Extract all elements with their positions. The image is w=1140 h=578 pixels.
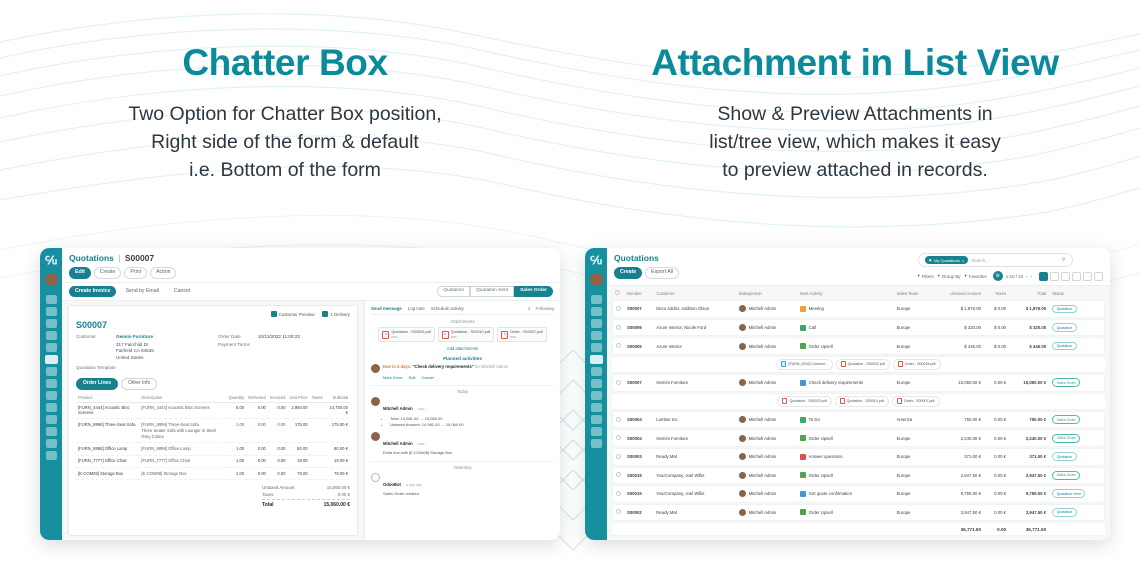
sidebar-icon-crm[interactable] [46, 331, 57, 340]
settings-icon[interactable]: ⚙ [993, 271, 1003, 281]
line-description: [E-COM08] Storage Box [139, 468, 226, 480]
row-customer: Lumber Inc [653, 411, 735, 429]
attachment-chip[interactable]: A Quotation - S00010.pdfPDF [438, 327, 494, 342]
customer-preview-label: Customer Preview [279, 312, 315, 317]
line-invoiced: 0.00 [268, 443, 288, 455]
avatar [371, 364, 380, 373]
line-subtotal: 14,750.00 € [325, 402, 350, 418]
promo-band: Chatter Box Two Option for Chatter Box p… [0, 0, 1140, 230]
user-avatar[interactable] [45, 273, 58, 286]
row-untaxed: 750.00 € [932, 411, 984, 429]
create-button[interactable]: Create [94, 267, 122, 279]
sidebar-icon-settings[interactable] [46, 451, 57, 460]
avatar [739, 453, 746, 460]
table-row[interactable]: S00002 Ready Mat Mitchell Admin Order Up… [612, 504, 1105, 522]
attachment-chip[interactable]: A Order - S00007.pdfPDF [497, 327, 547, 342]
pager: ⚙ 1-10 / 10 ‹ › [993, 271, 1032, 281]
activity-entry: Due in 4 days: "Check delivery requireme… [371, 364, 554, 373]
activity-icon [800, 417, 806, 423]
attachment-name: Quotation - S00023.pdf [391, 330, 430, 334]
order-line-row[interactable]: [FURN_4444] Acoustic Bloc Screens [FURN_… [76, 402, 350, 418]
col-taxes[interactable]: Taxes [310, 393, 325, 403]
close-icon[interactable]: × [962, 258, 964, 263]
row-checkbox[interactable] [616, 417, 621, 422]
table-row[interactable]: S00007 Gemini Furniture Mitchell Admin C… [612, 374, 1105, 392]
attachment-name: Quotation - S00023.pdf [789, 399, 826, 403]
promo-subtitle-left-line-2: Right side of the form & default [0, 128, 570, 156]
row-salesperson: Mitchell Admin [749, 454, 777, 459]
status-badge: Quotation [1052, 323, 1077, 332]
col-salesperson[interactable]: Salesperson [736, 287, 797, 299]
promo-subtitle-left-line-1: Two Option for Chatter Box position, [0, 100, 570, 128]
attachment-chip[interactable]: Quotation - S00023.pdf [777, 396, 831, 407]
cancel-activity-button[interactable]: Cancel [421, 375, 433, 380]
list-header-row: Number Customer Salesperson Next Activit… [612, 287, 1105, 299]
search-icon[interactable]: ⚲ [1062, 257, 1066, 263]
breadcrumb-record: S00007 [125, 253, 154, 263]
following-button[interactable]: Following [535, 306, 554, 311]
sidebar-icon-sales[interactable] [591, 343, 602, 352]
avatar [739, 305, 746, 312]
row-total: $ 320.00 [1009, 319, 1049, 337]
send-message-button[interactable]: Send message [371, 306, 402, 311]
row-taxes: 0.00 € [984, 485, 1009, 503]
order-totals: Untaxed Amount 15,060.00 € Taxes 0.00 € … [262, 484, 350, 509]
row-checkbox[interactable] [616, 491, 621, 496]
row-team: Europe [894, 319, 933, 337]
message-author: OdooBot [383, 482, 401, 487]
form-fields-left: Customer Gemini Furniture 317 Fairchild … [76, 334, 208, 372]
status-badge: Sales Order [1052, 471, 1080, 480]
table-row[interactable]: S00006 Azure Interior, Nicole Ford Mitch… [612, 319, 1105, 337]
avatar [739, 472, 746, 479]
create-button[interactable]: Create [614, 267, 642, 279]
sidebar-icon-recruitment[interactable] [46, 427, 57, 436]
col-total[interactable]: Total [1009, 287, 1049, 299]
field-order-date-label: Order Date [218, 334, 254, 339]
sidebar-icon-inventory[interactable] [591, 379, 602, 388]
sidebar-icon-inventory[interactable] [46, 379, 57, 388]
attachment-name: Order - S00007.pdf [904, 399, 935, 403]
row-activity: Check delivery requirements [809, 380, 863, 385]
table-row[interactable]: S00004 Gemini Furniture Mitchell Admin O… [612, 429, 1105, 447]
pager-previous-icon[interactable]: ‹ [1026, 274, 1027, 279]
list-view-icon[interactable] [1039, 272, 1048, 281]
row-activity: To Do [809, 417, 820, 422]
breadcrumb-app[interactable]: Quotations [69, 253, 114, 263]
row-salesperson: Mitchell Admin [749, 344, 777, 349]
table-row[interactable]: S00005 Azure Interior Mitchell Admin Ord… [612, 337, 1105, 355]
status-quotation[interactable]: Quotation [437, 286, 470, 297]
row-taxes: 0.00 € [984, 429, 1009, 447]
message-time: - now [416, 442, 425, 446]
col-number[interactable]: Number [624, 287, 653, 299]
attachment-name: Order - S00016.pdf [905, 362, 936, 366]
sidebar-icon-quotations[interactable] [45, 355, 58, 364]
row-salesperson: Mitchell Admin [749, 436, 777, 441]
row-checkbox[interactable] [616, 306, 621, 311]
chatter-message: Mitchell Admin- now Extra line with [E-C… [371, 432, 554, 456]
field-payment-terms-label: Payment Terms [218, 342, 254, 347]
sidebar-icon-invoicing[interactable] [591, 367, 602, 376]
row-salesperson: Mitchell Admin [749, 510, 777, 515]
row-untaxed: 2,947.50 € [932, 504, 984, 522]
user-avatar[interactable] [590, 273, 603, 286]
attachment-chip[interactable]: [FURN_0910] Customi... [776, 359, 832, 370]
search-facet-label: My Quotations [934, 258, 960, 263]
sidebar-icon-manufacturing[interactable] [591, 403, 602, 412]
avatar [739, 343, 746, 350]
edit-button[interactable]: Edit [69, 267, 91, 279]
promo-title-left: Chatter Box [0, 44, 570, 83]
screenshot-list-view: ℆ Quotations Create Export All [585, 248, 1110, 540]
attachment-chip[interactable]: Quotation - S00023.pdf [836, 359, 890, 370]
row-taxes: $ 0.00 [984, 319, 1009, 337]
graph-view-icon[interactable] [1083, 272, 1092, 281]
line-taxes [310, 455, 325, 467]
sidebar-icon-contacts[interactable] [46, 307, 57, 316]
field-order-date-value[interactable]: 10/12/2022 11:00:23 [258, 334, 300, 339]
attachment-chip[interactable]: Quotation - S00010.pdf [835, 396, 889, 407]
promo-subtitle-left: Two Option for Chatter Box position, Rig… [0, 100, 570, 184]
search-bar[interactable]: ⚑ My Quotations × Search... ⚲ [918, 253, 1073, 267]
row-team: Europe [894, 448, 933, 466]
line-quantity: 1.00 [227, 455, 247, 467]
row-checkbox[interactable] [616, 454, 621, 459]
promo-column-left: Chatter Box Two Option for Chatter Box p… [0, 0, 570, 230]
row-checkbox[interactable] [616, 509, 621, 514]
sidebar-icon-calendar[interactable] [46, 319, 57, 328]
row-taxes: $ 0.00 [984, 337, 1009, 355]
odoo-sidebar-right: ℆ [585, 248, 607, 540]
col-next-activity[interactable]: Next Activity [797, 287, 894, 299]
row-salesperson: Mitchell Admin [749, 306, 777, 311]
tab-order-lines[interactable]: Order Lines [76, 378, 118, 390]
line-unit-price: 19.00 [287, 455, 309, 467]
sidebar-icon-crm[interactable] [591, 331, 602, 340]
attachment-chips: Quotation - S00023.pdf Quotation - S0001… [615, 396, 1102, 407]
message-body: Sales Order created [383, 491, 554, 497]
row-total: 2,947.50 € [1009, 467, 1049, 485]
breadcrumb: Quotations [614, 253, 679, 263]
sidebar-icon-calendar[interactable] [591, 319, 602, 328]
row-activity: Order Upsell [809, 473, 833, 478]
order-line-row[interactable]: [FURN_8999] Three-Seat Sofa [FURN_8999] … [76, 418, 350, 442]
col-untaxed-amount[interactable]: Untaxed Amount [932, 287, 984, 299]
schedule-activity-button[interactable]: Schedule activity [431, 306, 464, 311]
follower-count[interactable]: 3 [528, 306, 530, 311]
group-icon: ▾ [938, 273, 940, 279]
row-untaxed: 9,755.00 € [932, 485, 984, 503]
attachment-chip[interactable]: A Quotation - S00023.pdfPDF [378, 327, 434, 342]
row-team: Europe [894, 337, 933, 355]
attachment-chip[interactable]: Order - S00016.pdf [893, 359, 941, 370]
col-sales-team[interactable]: Sales Team [894, 287, 933, 299]
odoo-logo-icon[interactable]: ℆ [43, 252, 59, 268]
line-taxes [310, 402, 325, 418]
total-untaxed-row: Untaxed Amount 15,060.00 € [262, 484, 350, 491]
row-activity: Order Upsell [809, 436, 833, 441]
address-line-3: United States [116, 355, 144, 360]
col-customer[interactable]: Customer [653, 287, 735, 299]
status-badge: Quotation [1052, 508, 1077, 517]
sidebar-icon-inbox[interactable] [591, 295, 602, 304]
row-team: Europe [894, 429, 933, 447]
activity-view-icon[interactable] [1094, 272, 1103, 281]
line-taxes [310, 418, 325, 442]
cancel-button[interactable]: Cancel [168, 286, 196, 298]
image-icon [781, 361, 786, 367]
status-badge: Quotation Sent [1052, 489, 1085, 498]
row-customer: YourCompany, Joel Willis [653, 485, 735, 503]
sidebar-icon-contacts[interactable] [591, 307, 602, 316]
list-control-panel: Quotations Create Export All ⚑ My Quotat… [607, 248, 1110, 286]
list-action-buttons: Create Export All [614, 267, 679, 279]
attachment-chip[interactable]: Order - S00007.pdf [892, 396, 940, 407]
row-total: 750.00 € [1009, 411, 1049, 429]
list-footer-totals: 36,771.50 0.00 36,771.50 [612, 522, 1105, 536]
line-quantity: 5.00 [227, 402, 247, 418]
favorites-button[interactable]: ▾Favorites [964, 273, 986, 279]
table-row[interactable]: S00004 Lumber Inc Mitchell Admin To Do A… [612, 411, 1105, 429]
row-activity: Call [809, 325, 816, 330]
row-checkbox[interactable] [616, 343, 621, 348]
row-number: S00007 [624, 300, 653, 318]
field-customer-label: Customer [76, 334, 112, 339]
field-customer-address: 317 Fairchild Dr Fairfield CA 94535 Unit… [76, 342, 208, 363]
search-input[interactable]: Search... [971, 258, 1059, 263]
row-taxes: 0.00 € [984, 411, 1009, 429]
row-number: S00005 [624, 337, 653, 355]
col-unit-price[interactable]: Unit Price [287, 393, 309, 403]
row-activity: Order Upsell [809, 510, 833, 515]
status-quotation-sent[interactable]: Quotation Sent [470, 286, 514, 297]
export-all-button[interactable]: Export All [645, 267, 679, 279]
col-subtotal[interactable]: Subtotal [325, 393, 350, 403]
list-rows: S00007 Deco Addict, Addison Olson Mitche… [612, 300, 1105, 536]
calendar-view-icon[interactable] [1061, 272, 1070, 281]
action-button[interactable]: Action [150, 267, 176, 279]
col-description[interactable]: Description [139, 393, 226, 403]
table-row[interactable]: S00015 YourCompany, Joel Willis Mitchell… [612, 485, 1105, 503]
row-customer: Gemini Furniture [653, 374, 735, 392]
field-customer-value[interactable]: Gemini Furniture [116, 334, 153, 339]
eye-icon [271, 311, 277, 317]
avatar [371, 397, 380, 406]
form-body: Quotations | S00007 Edit Create Print Ac… [62, 248, 560, 540]
row-untaxed: 2,947.50 € [932, 467, 984, 485]
line-quantity: 1.00 [227, 418, 247, 442]
order-line-row[interactable]: [E-COM08] Storage Box [E-COM08] Storage … [76, 468, 350, 480]
group-by-button[interactable]: ▾Group By [938, 273, 961, 279]
row-taxes: 0.00 € [984, 374, 1009, 392]
kanban-view-icon[interactable] [1050, 272, 1059, 281]
line-product: [FURN_8888] Office Lamp [76, 443, 139, 455]
line-invoiced: 0.00 [268, 402, 288, 418]
row-activity: Meeting [809, 306, 824, 311]
sidebar-icon-purchase[interactable] [46, 391, 57, 400]
customer-preview-button[interactable]: Customer Preview [271, 311, 315, 317]
promo-subtitle-right-line-2: list/tree view, which makes it easy [570, 128, 1140, 156]
status-badge: Quotation [1052, 452, 1077, 461]
avatar [739, 324, 746, 331]
col-quantity[interactable]: Quantity [227, 393, 247, 403]
status-sales-order[interactable]: Sales Order [514, 286, 553, 297]
activity-due: Due in 4 days: [383, 364, 411, 369]
line-product: [E-COM08] Storage Box [76, 468, 139, 480]
avatar [739, 379, 746, 386]
pager-next-icon[interactable]: › [1031, 274, 1032, 279]
order-line-row[interactable]: [FURN_7777] Office Chair [FURN_7777] Off… [76, 455, 350, 467]
create-invoice-button[interactable]: Create Invoice [69, 286, 116, 298]
sidebar-icon-invoicing[interactable] [46, 367, 57, 376]
chatter-actions: Send message Log note Schedule activity [371, 306, 464, 311]
attachment-name: Order - S00007.pdf [510, 330, 543, 334]
row-salesperson: Mitchell Admin [749, 417, 777, 422]
pdf-icon: A [382, 331, 389, 339]
row-salesperson: Mitchell Admin [749, 380, 777, 385]
select-all-checkbox[interactable] [615, 290, 620, 295]
row-checkbox[interactable] [616, 435, 621, 440]
col-status[interactable]: Status [1049, 287, 1105, 299]
row-taxes: 0.00 € [984, 504, 1009, 522]
row-number: S00002 [624, 504, 653, 522]
row-untaxed: $ 1,876.00 [932, 300, 984, 318]
send-by-email-button[interactable]: Send by Email [119, 286, 164, 298]
line-quantity: 1.00 [227, 468, 247, 480]
activity-icon [800, 435, 806, 441]
form-control-panel: Quotations | S00007 Edit Create Print Ac… [62, 248, 560, 283]
col-taxes[interactable]: Taxes [984, 287, 1009, 299]
row-checkbox[interactable] [616, 380, 621, 385]
status-badge: Quotation [1052, 305, 1077, 314]
row-total: 9,755.00 € [1009, 485, 1049, 503]
pdf-icon: A [442, 331, 449, 339]
line-invoiced: 0.00 [268, 468, 288, 480]
message-line: Untaxed Amount: 14,981.00 → 15,060.00 [390, 422, 554, 428]
form-fields-grid: Customer Gemini Furniture 317 Fairchild … [76, 334, 350, 372]
col-delivered[interactable]: Delivered [246, 393, 268, 403]
activity-icon [800, 472, 806, 478]
filters-button[interactable]: ▾Filters [918, 273, 934, 279]
sidebar-icon-employees[interactable] [591, 415, 602, 424]
line-delivered: 0.00 [246, 468, 268, 480]
pager-count: 1-10 / 10 [1006, 274, 1023, 279]
order-line-row[interactable]: [FURN_8888] Office Lamp [FURN_8888] Offi… [76, 443, 350, 455]
chatter-followers: 3 Following [528, 306, 554, 311]
row-activity: Answer questions [809, 454, 843, 459]
add-attachments-button[interactable]: Add attachments [371, 346, 554, 351]
row-taxes: 0.00 € [984, 448, 1009, 466]
truck-icon [322, 311, 328, 317]
print-button[interactable]: Print [124, 267, 147, 279]
avatar [739, 490, 746, 497]
sidebar-icon-employees[interactable] [46, 415, 57, 424]
message-time: - now [416, 407, 425, 411]
row-checkbox[interactable] [616, 472, 621, 477]
row-untaxed: 2,240.00 € [932, 429, 984, 447]
line-taxes [310, 443, 325, 455]
line-quantity: 1.00 [227, 443, 247, 455]
row-taxes: $ 0.00 [984, 300, 1009, 318]
order-lines-header: Product Description Quantity Delivered I… [76, 393, 350, 403]
search-facet-my-quotations[interactable]: ⚑ My Quotations × [925, 256, 969, 264]
attachments-section-label: Attachments [371, 319, 554, 324]
message-body: Total: 14,981.00 → 15,060.00 Untaxed Amo… [383, 416, 554, 428]
promo-column-right: Attachment in List View Show & Preview A… [570, 0, 1140, 230]
pdf-icon [841, 361, 846, 367]
sidebar-icon-quotations[interactable] [590, 355, 603, 364]
line-unit-price: 2,950.00 [287, 402, 309, 418]
row-team: Europe [894, 374, 933, 392]
activity-icon [800, 491, 806, 497]
total-untaxed-label: Untaxed Amount [262, 485, 294, 490]
row-number: S00006 [624, 319, 653, 337]
row-salesperson: Mitchell Admin [749, 491, 777, 496]
sidebar-icon-purchase[interactable] [591, 391, 602, 400]
list-table-wrapper: Number Customer Salesperson Next Activit… [607, 286, 1110, 540]
status-badge: Sales Order [1052, 415, 1080, 424]
group-by-label: Group By [942, 274, 961, 279]
log-note-button[interactable]: Log note [408, 306, 425, 311]
sidebar-icon-inbox[interactable] [46, 295, 57, 304]
col-product[interactable]: Product [76, 393, 139, 403]
line-description: [FURN_7777] Office Chair [139, 455, 226, 467]
mark-done-button[interactable]: Mark Done [383, 375, 403, 380]
line-product: [FURN_8999] Three-Seat Sofa [76, 418, 139, 442]
row-untaxed: $ 446.00 [932, 337, 984, 355]
row-team: Europe [894, 467, 933, 485]
delivery-stat-button[interactable]: 1 Delivery [322, 311, 350, 317]
pivot-view-icon[interactable] [1072, 272, 1081, 281]
line-product: [FURN_4444] Acoustic Bloc Screens [76, 402, 139, 418]
pdf-icon [897, 398, 902, 404]
message-author: Mitchell Admin [383, 441, 413, 446]
table-row[interactable]: S00019 YourCompany, Joel Willis Mitchell… [612, 467, 1105, 485]
sidebar-icon-sales[interactable] [46, 343, 57, 352]
col-invoiced[interactable]: Invoiced [268, 393, 288, 403]
field-payment-terms: Payment Terms [218, 342, 350, 347]
promo-subtitle-right-line-3: to preview attached in records. [570, 156, 1140, 184]
odoo-logo-icon[interactable]: ℆ [588, 252, 604, 268]
list-view-tools: ▾Filters ▾Group By ▾Favorites ⚙ 1-10 / 1… [918, 271, 1104, 281]
sidebar-icon-manufacturing[interactable] [46, 403, 57, 412]
line-subtotal: 60.00 € [325, 443, 350, 455]
tab-other-info[interactable]: Other Info [121, 378, 157, 390]
pdf-icon: A [501, 331, 508, 339]
avatar [739, 416, 746, 423]
row-checkbox[interactable] [616, 325, 621, 330]
row-untaxed: 15,060.00 € [932, 374, 984, 392]
activity-links: Mark Done Edit Cancel [383, 375, 554, 380]
row-total: 15,060.00 € [1009, 374, 1049, 392]
total-taxes-value: 0.00 € [338, 492, 350, 497]
sidebar-icon-website[interactable] [591, 427, 602, 436]
row-total: 2,240.00 € [1009, 429, 1049, 447]
promo-subtitle-left-line-3: i.e. Bottom of the form [0, 156, 570, 184]
sidebar-icon-settings[interactable] [591, 439, 602, 448]
filter-icon: ▾ [918, 273, 920, 279]
table-row[interactable]: S00007 Deco Addict, Addison Olson Mitche… [612, 300, 1105, 318]
edit-activity-button[interactable]: Edit [409, 375, 416, 380]
row-total: $ 446.00 [1009, 337, 1049, 355]
list-body: Quotations Create Export All ⚑ My Quotat… [607, 248, 1110, 540]
line-unit-price: 79.00 [287, 468, 309, 480]
attachment-type: PDF [451, 335, 457, 339]
sidebar-icon-website[interactable] [46, 439, 57, 448]
table-row[interactable]: S00003 Ready Mat Mitchell Admin Answer q… [612, 448, 1105, 466]
attachment-type: PDF [391, 335, 397, 339]
